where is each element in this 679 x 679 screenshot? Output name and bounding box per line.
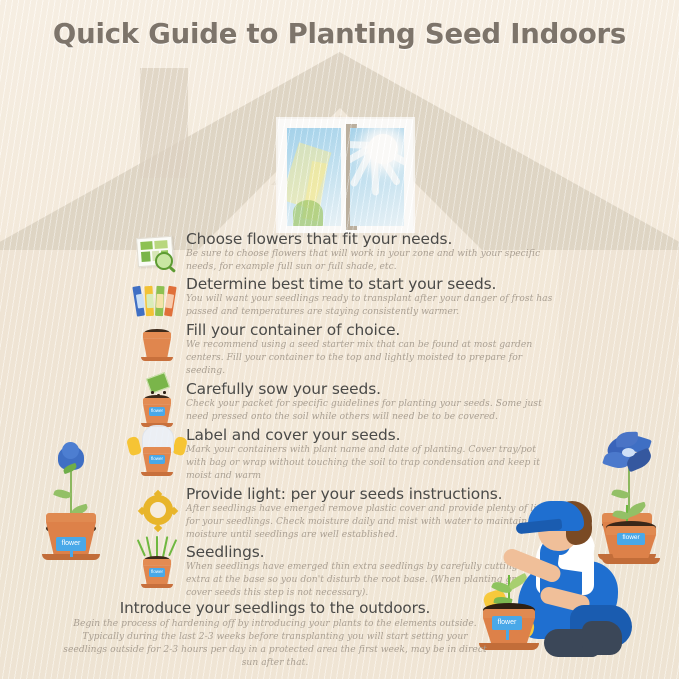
window-foliage [293, 200, 323, 226]
step-heading: Fill your container of choice. [186, 322, 554, 339]
pot-saucer [602, 558, 660, 564]
seedling-blade [168, 539, 178, 556]
sun-light-icon [134, 488, 180, 534]
chimney-shape [140, 68, 188, 178]
seedlings-pot-icon: flower [134, 536, 180, 592]
flower-bud-highlight [62, 442, 79, 459]
seedling-blade [146, 536, 153, 557]
pot-rim [143, 447, 171, 453]
covered-pot-gloves-icon: flower [128, 423, 186, 475]
pot-rim [143, 332, 171, 338]
plant-label-tag: flower [149, 455, 165, 464]
background-potted-seedling: flower [600, 505, 662, 563]
footer-step: Introduce your seedlings to the outdoors… [60, 600, 490, 670]
glove-icon [172, 436, 188, 456]
sowing-seeds-icon: flower [134, 375, 180, 429]
step-item: Fill your container of choice. We recomm… [134, 322, 554, 378]
step-heading: Determine best time to start your seeds. [186, 276, 554, 293]
falling-seed [151, 391, 154, 394]
step-heading: Label and cover your seeds. [186, 427, 554, 444]
sunny-window [278, 119, 413, 235]
step-body: You will want your seedlings ready to tr… [186, 293, 554, 319]
plant-label-tag: flower [149, 407, 165, 416]
pot-saucer [141, 357, 173, 361]
flower-center [622, 448, 635, 457]
footer-step-heading: Introduce your seedlings to the outdoors… [60, 600, 490, 617]
pot-rim [143, 559, 171, 565]
step-body: Be sure to choose flowers that will work… [186, 248, 554, 274]
plant-label-tag: flower [617, 533, 645, 545]
step-body: We recommend using a seed starter mix th… [186, 339, 554, 378]
step-heading: Choose flowers that fit your needs. [186, 231, 554, 248]
seedling-blade [156, 536, 158, 558]
seed-packets-icon [134, 278, 180, 324]
step-item: Determine best time to start your seeds.… [134, 276, 554, 319]
window-pane-left [287, 128, 341, 226]
sun-point [154, 524, 162, 532]
pot-saucer [141, 472, 173, 476]
seedling-leaf [626, 504, 645, 517]
step-item: flower Label and cover your seeds. Mark … [134, 427, 554, 483]
sun-emblem [143, 495, 173, 525]
step-heading: Carefully sow your seeds. [186, 381, 554, 398]
plant-label-stake [506, 626, 509, 640]
pot-saucer [141, 584, 173, 588]
flower-pot [143, 332, 171, 361]
sun-icon [368, 134, 398, 164]
step-body: Mark your containers with plant name and… [186, 444, 554, 483]
window-pane-right [350, 128, 404, 226]
filled-pot-icon [134, 324, 180, 370]
seed-packet [146, 372, 170, 394]
plant-label-stake [70, 546, 73, 557]
infographic-poster: Quick Guide to Planting Seed Indoors flo… [0, 0, 679, 679]
pot-rim [46, 513, 96, 522]
plant-label-tag: flower [149, 568, 165, 577]
footer-step-body: Begin the process of hardening off by in… [60, 618, 490, 670]
page-title: Quick Guide to Planting Seed Indoors [0, 18, 679, 50]
seed-catalog-icon [134, 233, 180, 279]
step-item: flower Carefully sow your seeds. Check y… [134, 381, 554, 424]
step-body: Check your packet for specific guideline… [186, 398, 554, 424]
left-potted-plant: flower [32, 432, 112, 560]
gardener-boot [582, 621, 622, 655]
magnifier-icon [155, 252, 173, 270]
glove-icon [126, 436, 142, 456]
falling-seed [163, 391, 166, 394]
seedling-blade [137, 539, 147, 556]
pot-rim [143, 398, 171, 404]
pot-body [143, 338, 171, 357]
step-item: Choose flowers that fit your needs. Be s… [134, 231, 554, 274]
